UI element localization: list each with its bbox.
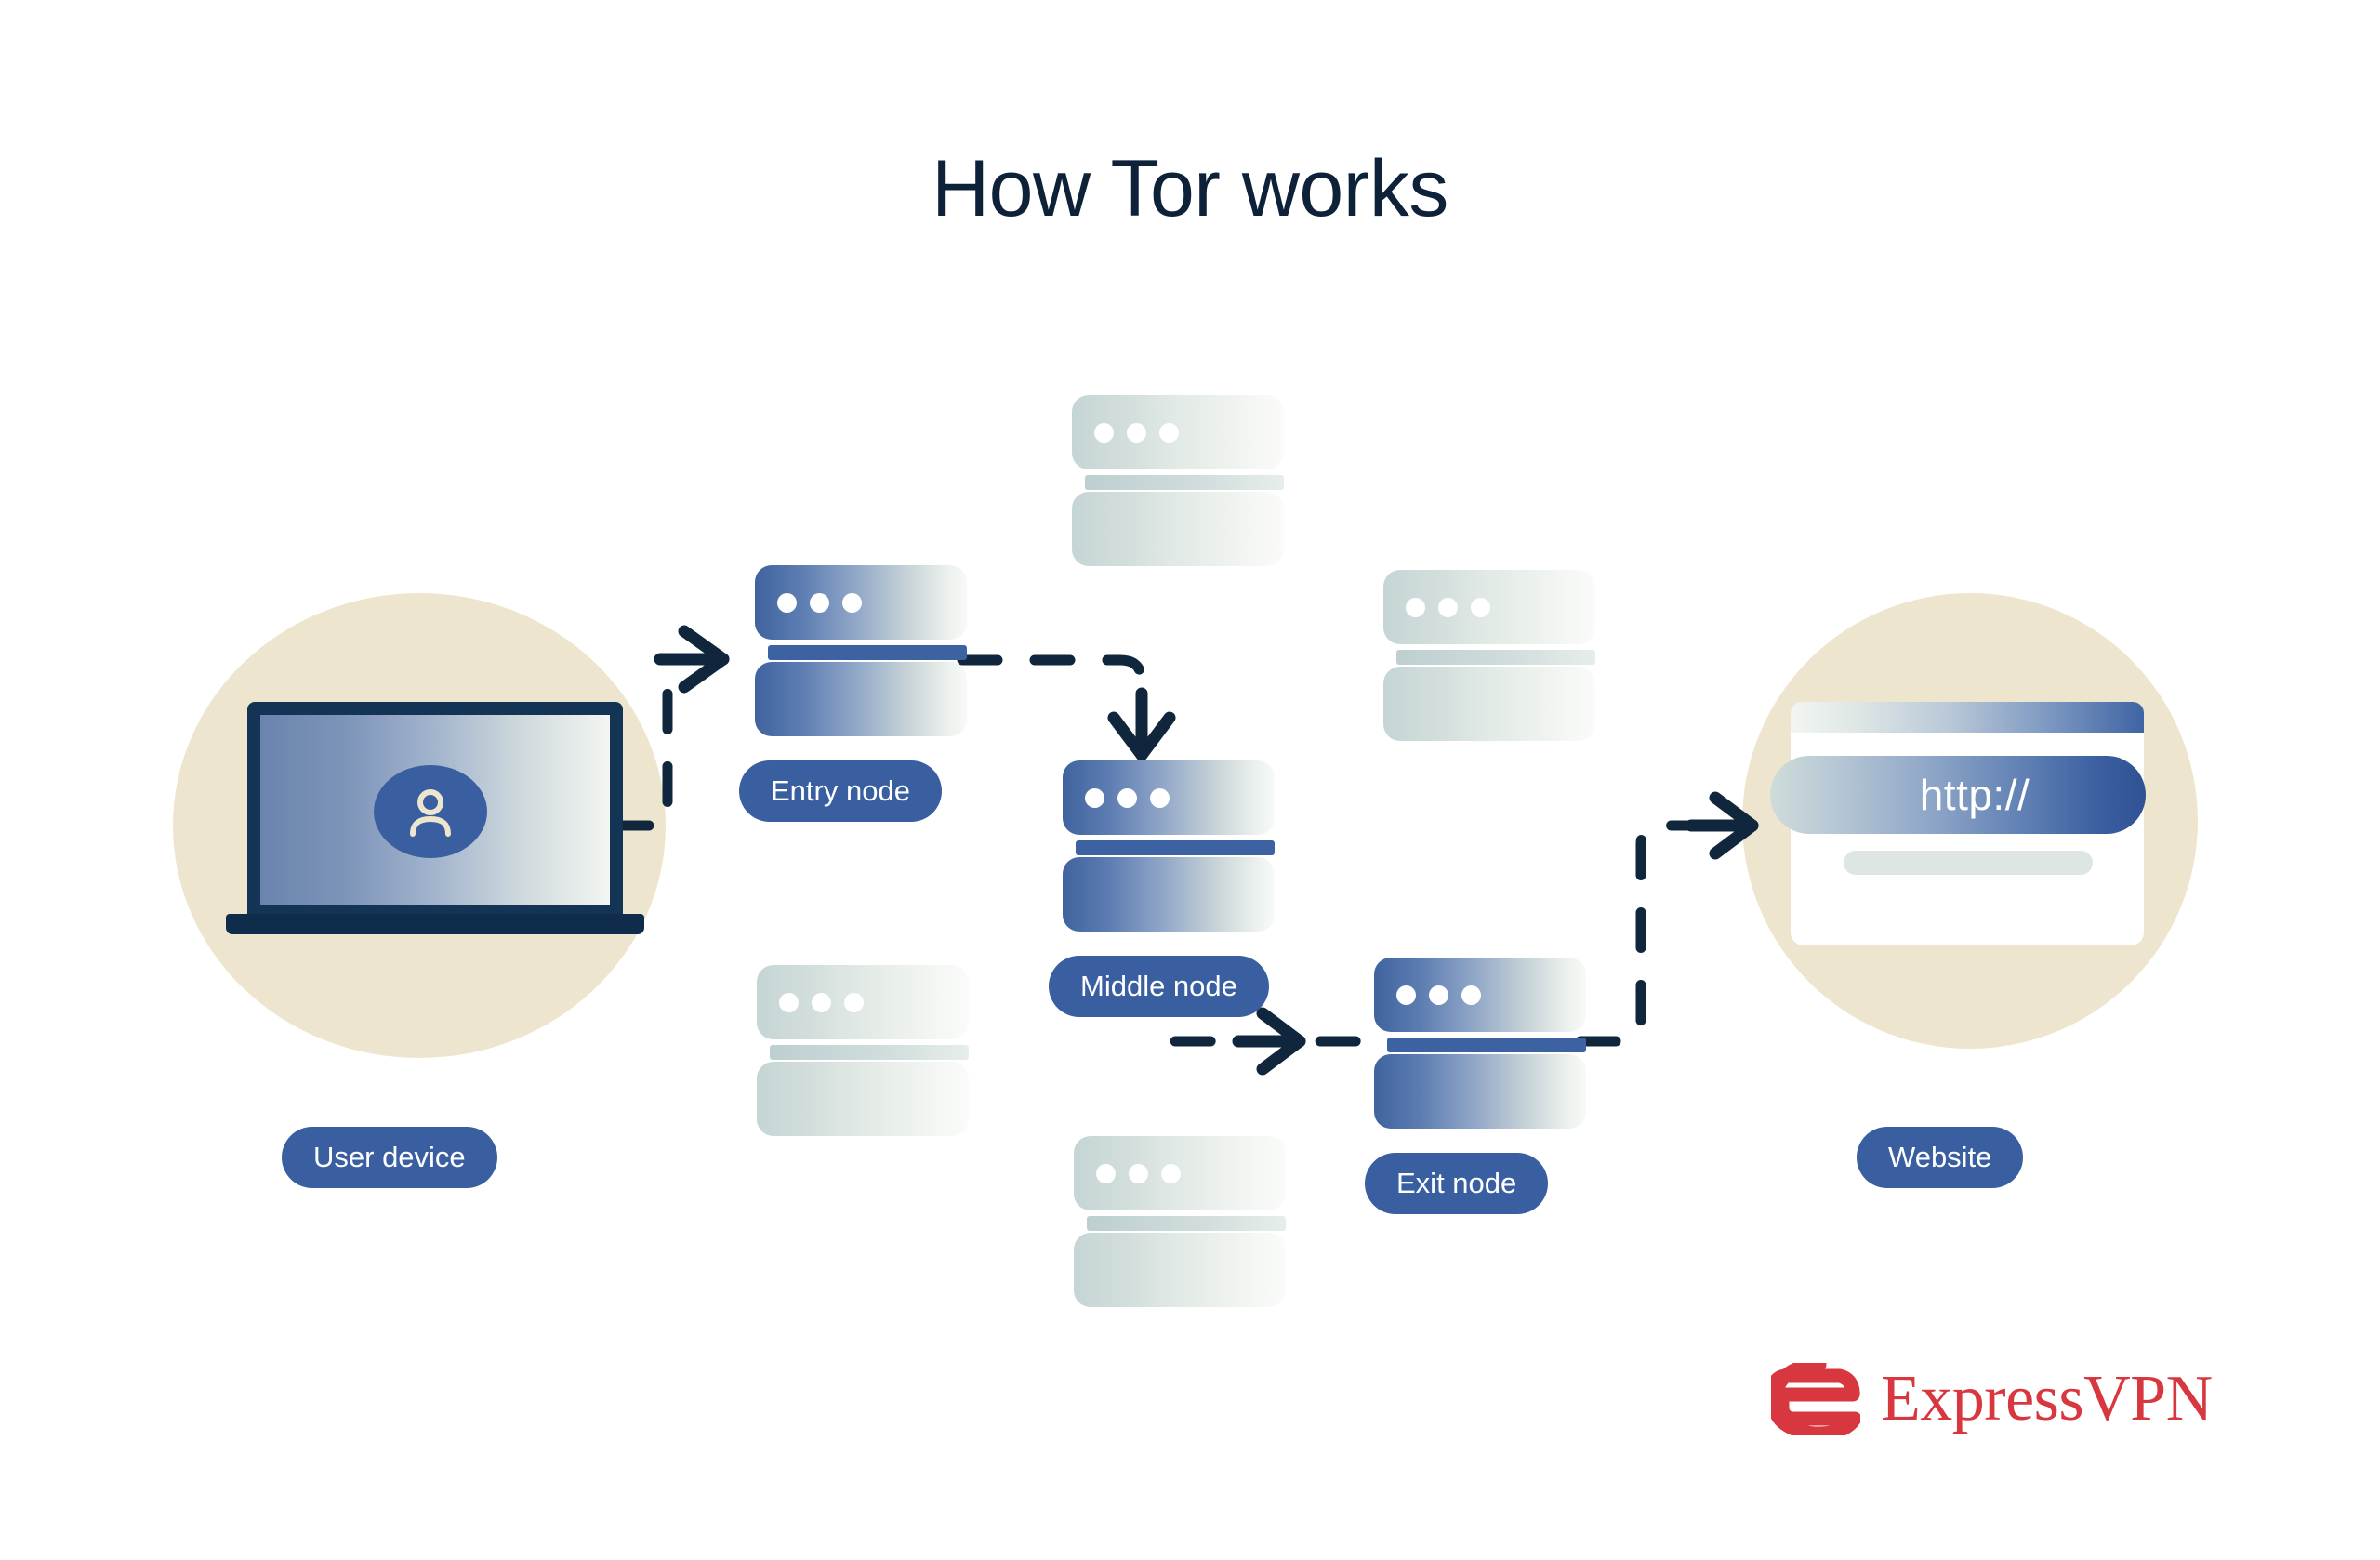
server-indicator-dots bbox=[779, 1186, 864, 1206]
server-slab-bottom bbox=[1374, 1054, 1586, 1129]
server-slab-top bbox=[755, 565, 967, 640]
decoy-node-top bbox=[1072, 395, 1284, 566]
url-text: http:// bbox=[1920, 770, 2030, 820]
exit-node-server-icon[interactable] bbox=[1374, 958, 1586, 1129]
server-indicator-dots bbox=[1096, 1164, 1181, 1183]
expressvpn-e-icon bbox=[1771, 1363, 1860, 1435]
server-slab-bottom bbox=[1383, 667, 1595, 741]
website-label: Website bbox=[1857, 1127, 2023, 1188]
expressvpn-wordmark: ExpressVPN bbox=[1881, 1367, 2213, 1432]
server-slab-bottom bbox=[757, 1062, 969, 1136]
server-connector-bar bbox=[1396, 650, 1595, 665]
server-indicator-dots bbox=[1085, 788, 1170, 808]
server-slab-bottom bbox=[1063, 857, 1275, 932]
server-indicator-dots bbox=[1096, 1357, 1181, 1377]
middle-node-label: Middle node bbox=[1049, 956, 1269, 1017]
laptop-base bbox=[226, 914, 644, 934]
server-connector-bar bbox=[768, 645, 967, 660]
server-indicator-dots bbox=[777, 593, 862, 613]
entry-node-server-icon[interactable] bbox=[755, 565, 967, 736]
browser-content-placeholder-line bbox=[1844, 851, 2093, 875]
diagram-canvas: How Tor works bbox=[0, 0, 2380, 1560]
server-slab-bottom bbox=[755, 662, 967, 736]
browser-title-bar bbox=[1791, 702, 2144, 733]
page-title: How Tor works bbox=[0, 149, 2380, 229]
middle-node-server-icon[interactable] bbox=[1063, 760, 1275, 932]
server-indicator-dots bbox=[1406, 791, 1490, 811]
server-indicator-dots bbox=[1396, 985, 1481, 1005]
decoy-node-bottom bbox=[1074, 1136, 1286, 1307]
user-device-label: User device bbox=[282, 1127, 497, 1188]
server-connector-bar bbox=[1087, 1216, 1286, 1231]
server-connector-bar bbox=[1076, 840, 1275, 855]
server-slab-top bbox=[1074, 1136, 1286, 1210]
server-slab-top bbox=[1383, 570, 1595, 644]
server-slab-bottom bbox=[1072, 492, 1284, 566]
server-connector-bar bbox=[770, 1045, 969, 1060]
server-indicator-dots bbox=[1094, 423, 1179, 443]
user-avatar-icon bbox=[374, 765, 487, 858]
server-slab-top bbox=[1063, 760, 1275, 835]
server-connector-bar bbox=[1387, 1038, 1586, 1052]
browser-window-icon: http:// bbox=[1791, 702, 2144, 945]
server-slab-top bbox=[757, 965, 969, 1039]
entry-node-label: Entry node bbox=[739, 760, 942, 822]
server-indicator-dots bbox=[1094, 616, 1179, 636]
server-connector-bar bbox=[1085, 475, 1284, 490]
decoy-node-left-lower bbox=[757, 965, 969, 1136]
decoy-node-right-upper bbox=[1383, 570, 1595, 741]
server-slab-top bbox=[1072, 395, 1284, 469]
server-slab-bottom bbox=[1074, 1233, 1286, 1307]
server-slab-top bbox=[1374, 958, 1586, 1032]
exit-node-label: Exit node bbox=[1365, 1153, 1548, 1214]
expressvpn-logo: ExpressVPN bbox=[1771, 1363, 2213, 1435]
laptop-user-icon bbox=[226, 702, 644, 944]
server-indicator-dots bbox=[779, 993, 864, 1012]
browser-url-bar[interactable]: http:// bbox=[1770, 756, 2146, 834]
server-indicator-dots bbox=[1406, 598, 1490, 617]
